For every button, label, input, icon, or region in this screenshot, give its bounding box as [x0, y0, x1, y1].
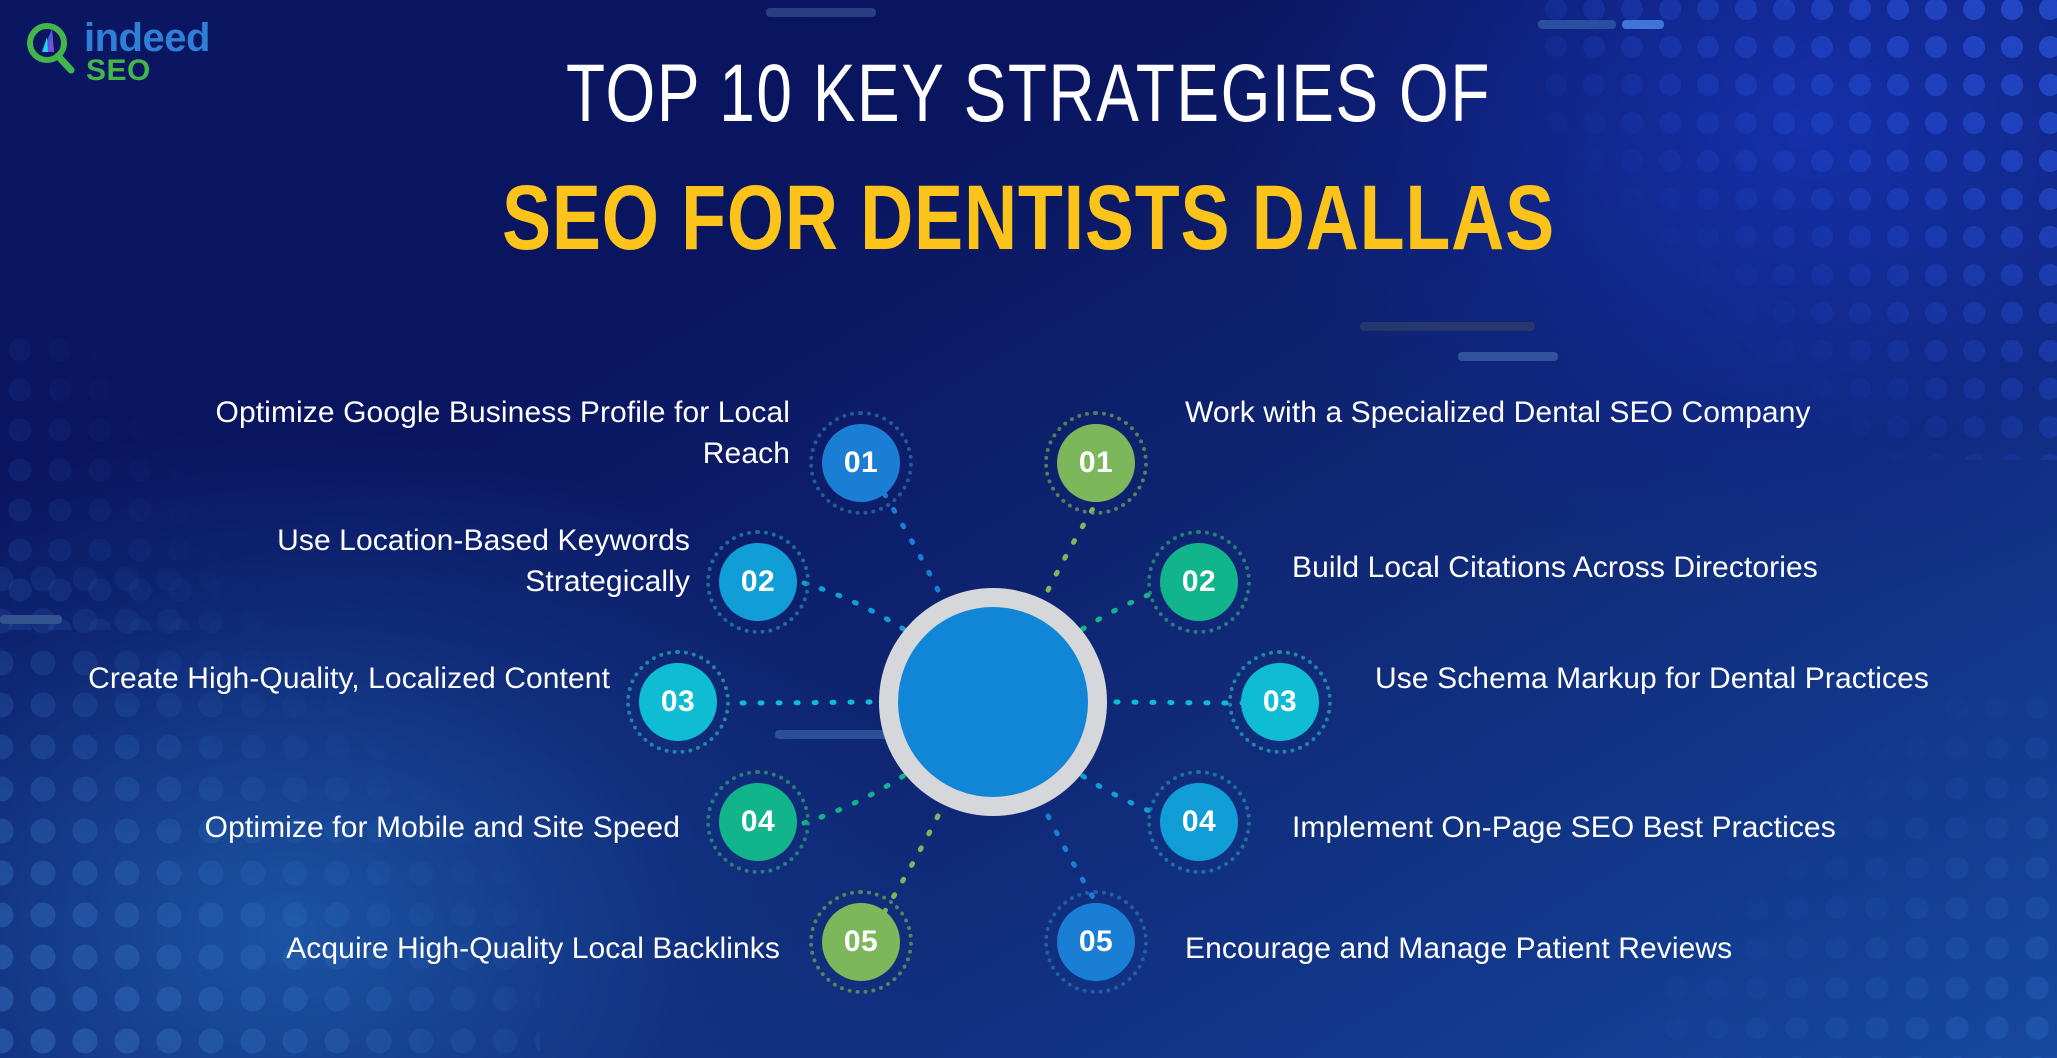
node-right-03-number: 03: [1263, 685, 1297, 719]
node-right-05-number: 05: [1079, 925, 1113, 959]
decor-bar-top-right-b: [1622, 20, 1664, 29]
label-left-04: Optimize for Mobile and Site Speed: [30, 807, 680, 848]
label-left-01: Optimize Google Business Profile for Loc…: [120, 392, 790, 475]
decor-bar-top-center: [766, 8, 876, 17]
node-right-01-number: 01: [1079, 446, 1113, 480]
decor-bar-mid-left: [775, 730, 895, 739]
node-left-04[interactable]: 04: [719, 783, 797, 861]
label-left-02: Use Location-Based Keywords Strategicall…: [110, 520, 690, 603]
node-left-03-number: 03: [661, 685, 695, 719]
node-left-01[interactable]: 01: [822, 424, 900, 502]
halftone-dots-bottom-right: [1657, 688, 2057, 1058]
node-left-03[interactable]: 03: [639, 663, 717, 741]
page-title-line2: SEO FOR DENTISTS DALLAS: [206, 172, 1852, 266]
node-right-02[interactable]: 02: [1160, 543, 1238, 621]
decor-bar-left-edge: [0, 615, 62, 624]
node-right-04-number: 04: [1182, 805, 1216, 839]
infographic-canvas: indeed SEO TOP 10 KEY STRATEGIES OF SEO …: [0, 0, 2057, 1058]
decor-bar-top-right-a: [1538, 20, 1616, 29]
center-hub: [879, 588, 1107, 816]
label-left-03: Create High-Quality, Localized Content: [30, 658, 610, 699]
node-right-01[interactable]: 01: [1057, 424, 1135, 502]
node-left-01-number: 01: [844, 446, 878, 480]
label-left-05: Acquire High-Quality Local Backlinks: [80, 928, 780, 969]
node-right-03[interactable]: 03: [1241, 663, 1319, 741]
label-right-01: Work with a Specialized Dental SEO Compa…: [1185, 392, 1865, 433]
label-right-04: Implement On-Page SEO Best Practices: [1292, 807, 2032, 848]
node-left-02[interactable]: 02: [719, 543, 797, 621]
node-left-04-number: 04: [741, 805, 775, 839]
label-right-02: Build Local Citations Across Directories: [1292, 547, 2012, 588]
page-title-line1: TOP 10 KEY STRATEGIES OF: [226, 52, 1830, 136]
node-left-05-number: 05: [844, 925, 878, 959]
node-right-05[interactable]: 05: [1057, 903, 1135, 981]
label-right-03: Use Schema Markup for Dental Practices: [1375, 658, 1975, 699]
decor-bar-mid-right-b: [1458, 352, 1558, 361]
node-left-02-number: 02: [741, 565, 775, 599]
node-left-05[interactable]: 05: [822, 903, 900, 981]
decor-bar-mid-right-a: [1360, 322, 1535, 331]
node-right-04[interactable]: 04: [1160, 783, 1238, 861]
label-right-05: Encourage and Manage Patient Reviews: [1185, 928, 1945, 969]
node-right-02-number: 02: [1182, 565, 1216, 599]
title-block: TOP 10 KEY STRATEGIES OF SEO FOR DENTIST…: [0, 52, 2057, 265]
